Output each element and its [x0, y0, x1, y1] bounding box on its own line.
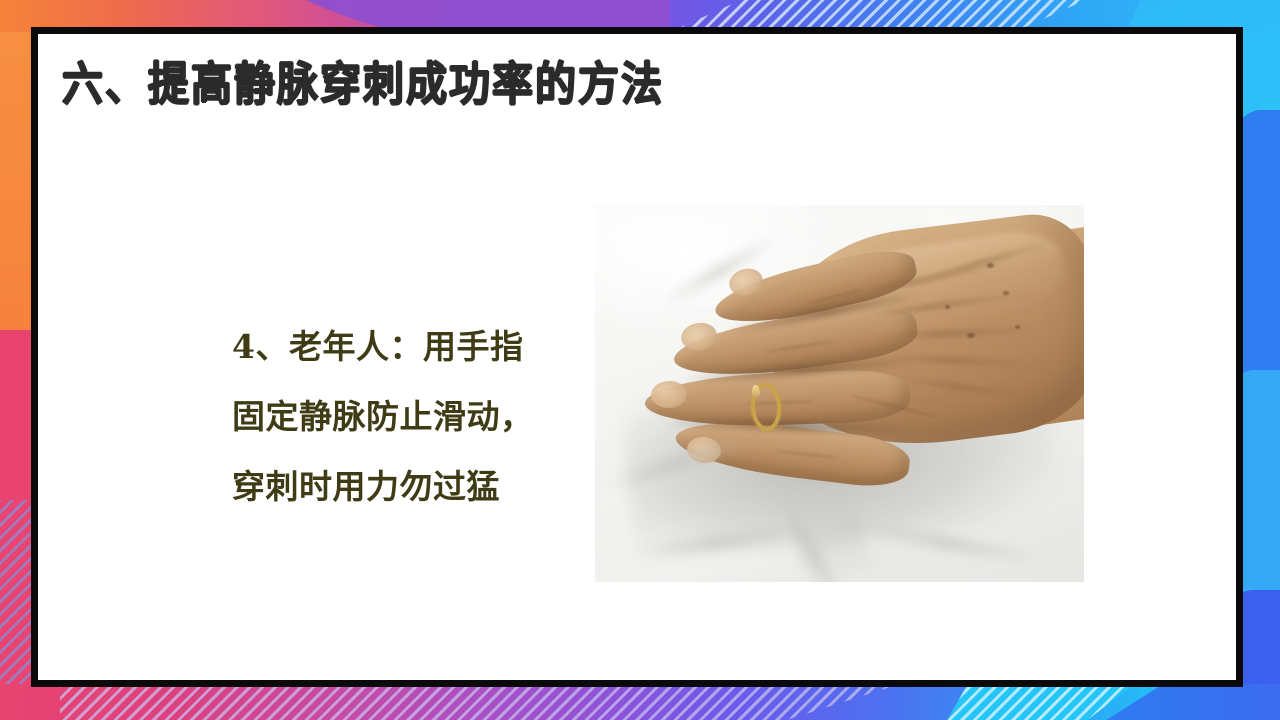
body-line-3: 穿刺时用力勿过猛 [232, 452, 582, 522]
body-line-1: 4、老年人：用手指 [232, 312, 582, 382]
body-line-2: 固定静脉防止滑动， [232, 382, 582, 452]
age-spot [945, 305, 950, 309]
slide-title: 六、提高静脉穿刺成功率的方法 [62, 62, 664, 108]
slide-body-text: 4、老年人：用手指 固定静脉防止滑动， 穿刺时用力勿过猛 [232, 312, 582, 522]
hand-photograph [595, 205, 1084, 582]
age-spot [1003, 291, 1009, 295]
age-spot [967, 333, 975, 338]
slide: 六、提高静脉穿刺成功率的方法 4、老年人：用手指 固定静脉防止滑动， 穿刺时用力… [0, 0, 1280, 720]
age-spot [987, 263, 994, 268]
bottom-band-stripes [60, 684, 900, 720]
age-spot [1015, 325, 1020, 329]
